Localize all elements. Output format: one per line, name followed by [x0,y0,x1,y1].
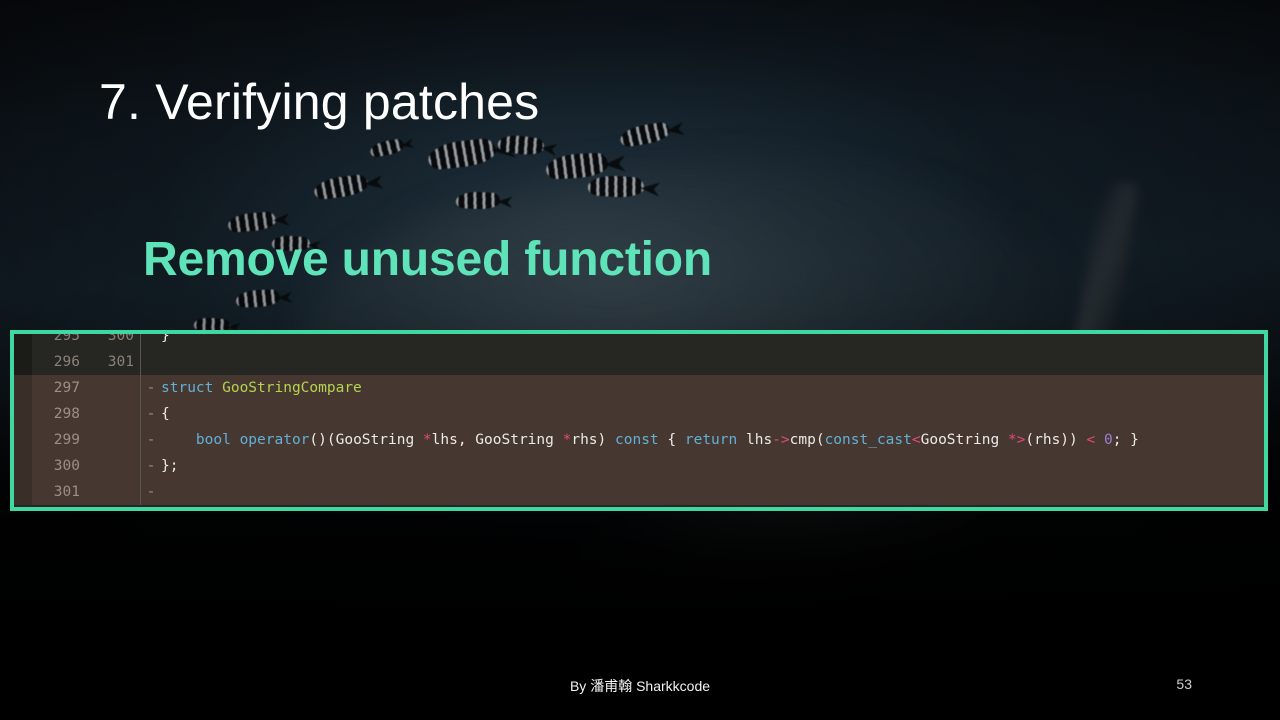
diff-line: 298-{ [14,401,1264,427]
slide: 7. Verifying patches Remove unused funct… [0,0,1280,720]
code-token: (rhs)) [1025,432,1086,448]
diff-gutter-edge [14,427,32,453]
code-token: -> [772,432,789,448]
diff-gutter-separator [140,330,141,349]
code-token: const_cast [825,432,912,448]
diff-old-line-number: 296 [32,354,86,370]
diff-marker: - [141,458,161,474]
code-token: * [423,432,432,448]
code-token: { [659,432,685,448]
diff-old-line-number: 295 [32,330,86,344]
code-token: ; } [1113,432,1139,448]
code-token: *> [1008,432,1025,448]
diff-line: 301- [14,479,1264,505]
code-token: struct [161,380,222,396]
code-token: } [161,330,170,344]
code-diff-block: 295300}296301297-struct GooStringCompare… [10,330,1268,511]
diff-line: 299- bool operator()(GooString *lhs, Goo… [14,427,1264,453]
diff-old-line-number: 299 [32,432,86,448]
diff-marker: - [141,380,161,396]
diff-new-line-number: 301 [86,354,140,370]
code-token: const [615,432,659,448]
code-token: cmp( [790,432,825,448]
diff-marker: - [141,432,161,448]
diff-line-list: 295300}296301297-struct GooStringCompare… [14,330,1264,505]
code-token: return [685,432,737,448]
footer-author: By 潘甫翰 Sharkkcode [0,676,1280,696]
diff-marker: - [141,406,161,422]
code-token: { [161,406,170,422]
diff-code-text: struct GooStringCompare [161,380,1264,396]
diff-gutter-edge [14,401,32,427]
diff-new-line-number: 300 [86,330,140,344]
code-token [1095,432,1104,448]
page-title: 7. Verifying patches [99,74,539,132]
code-token: }; [161,458,178,474]
diff-gutter-separator [140,349,141,375]
code-token: lhs [737,432,772,448]
diff-code-text: } [161,330,1264,344]
diff-line: 300-}; [14,453,1264,479]
code-token: < [912,432,921,448]
footer-page-number: 53 [1176,676,1192,692]
diff-old-line-number: 298 [32,406,86,422]
diff-gutter-edge [14,453,32,479]
diff-marker: - [141,484,161,500]
code-token: < [1087,432,1096,448]
diff-old-line-number: 300 [32,458,86,474]
diff-old-line-number: 301 [32,484,86,500]
code-token: GooStringCompare [222,380,362,396]
diff-gutter-edge [14,330,32,349]
code-token: bool [196,432,240,448]
diff-gutter-edge [14,349,32,375]
diff-code-text: { [161,406,1264,422]
diff-line: 296301 [14,349,1264,375]
diff-line: 295300} [14,330,1264,349]
slide-subtitle: Remove unused function [143,232,712,287]
code-token: GooString [921,432,1008,448]
diff-gutter-edge [14,479,32,505]
diff-code-text: }; [161,458,1264,474]
code-token: ()(GooString [309,432,423,448]
code-token: rhs) [571,432,615,448]
diff-old-line-number: 297 [32,380,86,396]
diff-code-text: bool operator()(GooString *lhs, GooStrin… [161,432,1264,448]
diff-gutter-edge [14,375,32,401]
code-token [161,432,196,448]
code-token: lhs, GooString [432,432,563,448]
footer: By 潘甫翰 Sharkkcode 53 [0,676,1280,700]
code-token: 0 [1104,432,1113,448]
diff-line: 297-struct GooStringCompare [14,375,1264,401]
code-token: operator [240,432,310,448]
